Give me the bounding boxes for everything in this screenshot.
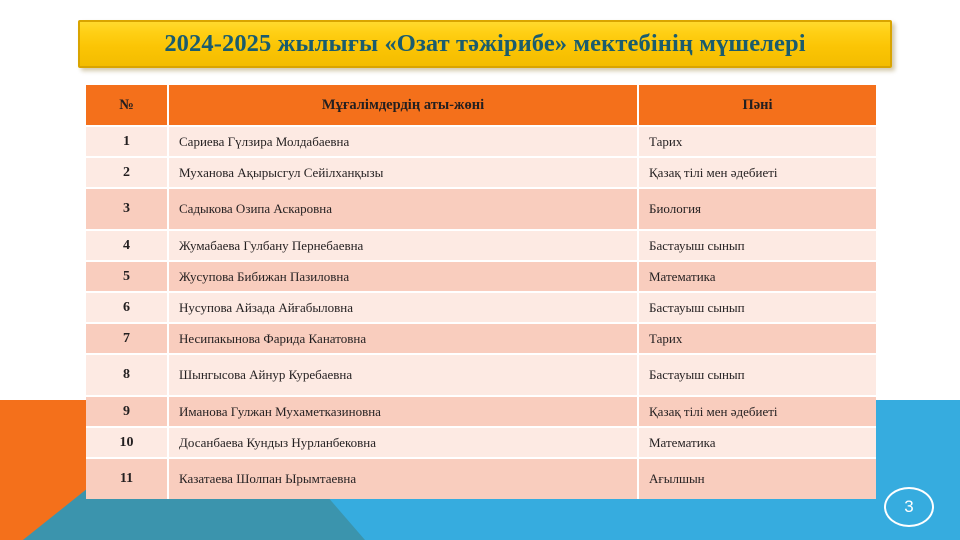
cell-number: 3 bbox=[86, 188, 168, 230]
column-header-subject: Пәні bbox=[638, 85, 876, 126]
cell-name: Сариева Гүлзира Молдабаевна bbox=[168, 126, 638, 157]
cell-name: Иманова Гулжан Мухаметказиновна bbox=[168, 396, 638, 427]
cell-number: 5 bbox=[86, 261, 168, 292]
cell-name: Досанбаева Кундыз Нурланбековна bbox=[168, 427, 638, 458]
cell-number: 10 bbox=[86, 427, 168, 458]
cell-number: 8 bbox=[86, 354, 168, 396]
cell-subject: Тарих bbox=[638, 126, 876, 157]
cell-name: Жумабаева Гулбану Пернебаевна bbox=[168, 230, 638, 261]
cell-name: Садыкова Озипа Аскаровна bbox=[168, 188, 638, 230]
cell-name: Жусупова Бибижан Пазиловна bbox=[168, 261, 638, 292]
cell-subject: Биология bbox=[638, 188, 876, 230]
cell-subject: Тарих bbox=[638, 323, 876, 354]
table-header-row: № Мұғалімдердің аты-жөні Пәні bbox=[86, 85, 876, 126]
column-header-name: Мұғалімдердің аты-жөні bbox=[168, 85, 638, 126]
table-row: 1 Сариева Гүлзира Молдабаевна Тарих bbox=[86, 126, 876, 157]
slide-title: 2024-2025 жылығы «Озат тәжірибе» мектебі… bbox=[164, 30, 805, 58]
cell-subject: Математика bbox=[638, 261, 876, 292]
cell-number: 2 bbox=[86, 157, 168, 188]
table-row: 5 Жусупова Бибижан Пазиловна Математика bbox=[86, 261, 876, 292]
table-row: 11 Казатаева Шолпан Ырымтаевна Ағылшын bbox=[86, 458, 876, 499]
table-row: 3 Садыкова Озипа Аскаровна Биология bbox=[86, 188, 876, 230]
cell-subject: Қазақ тілі мен әдебиеті bbox=[638, 396, 876, 427]
cell-number: 9 bbox=[86, 396, 168, 427]
cell-number: 1 bbox=[86, 126, 168, 157]
table-row: 7 Несипакынова Фарида Канатовна Тарих bbox=[86, 323, 876, 354]
page-number-label: 3 bbox=[904, 497, 913, 517]
table-row: 9 Иманова Гулжан Мухаметказиновна Қазақ … bbox=[86, 396, 876, 427]
cell-number: 4 bbox=[86, 230, 168, 261]
cell-subject: Қазақ тілі мен әдебиеті bbox=[638, 157, 876, 188]
table-body: 1 Сариева Гүлзира Молдабаевна Тарих 2 Му… bbox=[86, 126, 876, 499]
table-row: 10 Досанбаева Кундыз Нурланбековна Матем… bbox=[86, 427, 876, 458]
table-row: 2 Муханова Ақырысгул Сейілханқызы Қазақ … bbox=[86, 157, 876, 188]
table-row: 6 Нусупова Айзада Айғабыловна Бастауыш с… bbox=[86, 292, 876, 323]
table-row: 4 Жумабаева Гулбану Пернебаевна Бастауыш… bbox=[86, 230, 876, 261]
page-number-badge: 3 bbox=[884, 487, 934, 527]
table-header: № Мұғалімдердің аты-жөні Пәні bbox=[86, 85, 876, 126]
cell-name: Нусупова Айзада Айғабыловна bbox=[168, 292, 638, 323]
cell-subject: Бастауыш сынып bbox=[638, 230, 876, 261]
cell-name: Муханова Ақырысгул Сейілханқызы bbox=[168, 157, 638, 188]
cell-subject: Бастауыш сынып bbox=[638, 354, 876, 396]
roster-table-container: № Мұғалімдердің аты-жөні Пәні 1 Сариева … bbox=[86, 85, 876, 499]
cell-number: 6 bbox=[86, 292, 168, 323]
cell-subject: Ағылшын bbox=[638, 458, 876, 499]
cell-subject: Математика bbox=[638, 427, 876, 458]
cell-name: Шынгысова Айнур Куребаевна bbox=[168, 354, 638, 396]
cell-subject: Бастауыш сынып bbox=[638, 292, 876, 323]
cell-number: 7 bbox=[86, 323, 168, 354]
table-row: 8 Шынгысова Айнур Куребаевна Бастауыш сы… bbox=[86, 354, 876, 396]
cell-name: Казатаева Шолпан Ырымтаевна bbox=[168, 458, 638, 499]
cell-name: Несипакынова Фарида Канатовна bbox=[168, 323, 638, 354]
roster-table: № Мұғалімдердің аты-жөні Пәні 1 Сариева … bbox=[86, 85, 876, 499]
slide-canvas: 2024-2025 жылығы «Озат тәжірибе» мектебі… bbox=[0, 0, 960, 540]
cell-number: 11 bbox=[86, 458, 168, 499]
title-banner: 2024-2025 жылығы «Озат тәжірибе» мектебі… bbox=[78, 20, 892, 68]
column-header-number: № bbox=[86, 85, 168, 126]
